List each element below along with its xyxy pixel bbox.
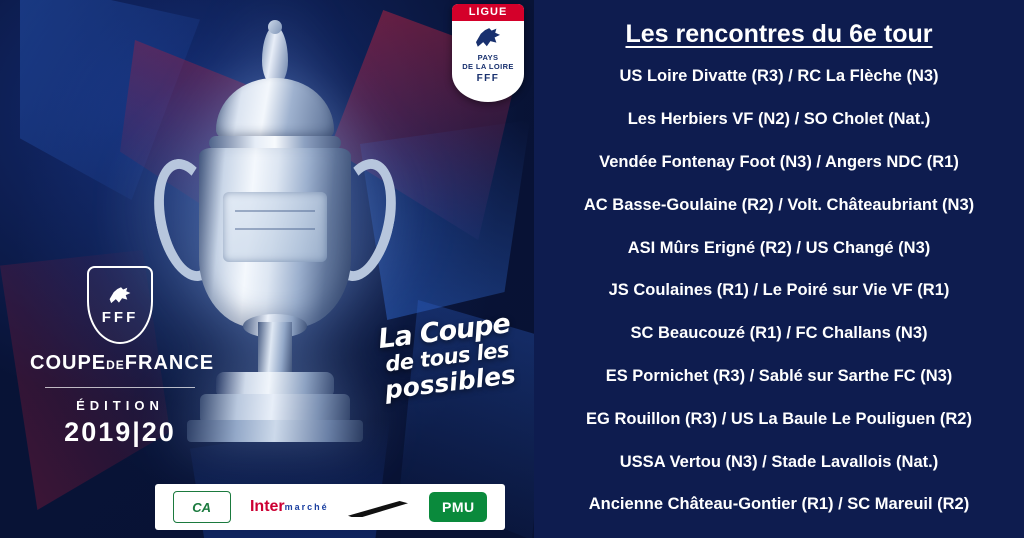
sponsor-bar: CA Inter marché PMU bbox=[155, 484, 505, 530]
edition-year: 2019|20 bbox=[30, 417, 210, 448]
fixture-row: Ancienne Château-Gontier (R1) / SC Mareu… bbox=[546, 495, 1012, 513]
ligue-region-label: PAYSDE LA LOIRE bbox=[452, 54, 524, 72]
fff-shield-logo: FFF bbox=[87, 266, 153, 344]
fixture-row: USSA Vertou (N3) / Stade Lavallois (Nat.… bbox=[546, 453, 1012, 471]
fixture-row: US Loire Divatte (R3) / RC La Flèche (N3… bbox=[546, 67, 1012, 85]
divider bbox=[45, 387, 195, 388]
campaign-slogan: La Coupe de tous les possibles bbox=[368, 309, 526, 404]
fixture-row: ES Pornichet (R3) / Sablé sur Sarthe FC … bbox=[546, 367, 1012, 385]
coupe-de-france-logo-block: FFF COUPEDEFRANCE ÉDITION 2019|20 bbox=[30, 266, 210, 448]
ligue-pays-de-la-loire-badge: LIGUE PAYSDE LA LOIRE FFF bbox=[452, 4, 524, 102]
sponsor-intermarche-logo: Inter marché bbox=[250, 499, 329, 515]
sponsor-pmu-logo: PMU bbox=[429, 492, 487, 522]
ligue-top-label: LIGUE bbox=[452, 4, 524, 21]
coupe-de-france-title: COUPEDEFRANCE bbox=[30, 352, 210, 375]
fixtures-title: Les rencontres du 6e tour bbox=[625, 20, 932, 49]
rooster-icon bbox=[107, 286, 133, 308]
trophy-plaque bbox=[223, 192, 327, 262]
intermarche-sub: marché bbox=[285, 503, 329, 512]
trophy-base-lower bbox=[187, 420, 363, 442]
trophy-figurine-icon bbox=[262, 26, 288, 84]
fixture-row: EG Rouillon (R3) / US La Baule Le Poulig… bbox=[546, 410, 1012, 428]
edition-label: ÉDITION bbox=[30, 398, 210, 413]
fixture-row: ASI Mûrs Erigné (R2) / US Changé (N3) bbox=[546, 239, 1012, 257]
poster: FFF COUPEDEFRANCE ÉDITION 2019|20 La Cou… bbox=[0, 0, 1024, 538]
fixture-row: AC Basse-Goulaine (R2) / Volt. Châteaubr… bbox=[546, 196, 1012, 214]
coupe-word: COUPE bbox=[30, 352, 106, 374]
figurine-head bbox=[268, 20, 282, 34]
fixture-row: SC Beaucouzé (R1) / FC Challans (N3) bbox=[546, 324, 1012, 342]
france-word: FRANCE bbox=[125, 352, 214, 374]
trophy-stem bbox=[258, 322, 292, 378]
poster-artwork-panel: FFF COUPEDEFRANCE ÉDITION 2019|20 La Cou… bbox=[0, 0, 534, 538]
intermarche-main: Inter bbox=[250, 499, 285, 515]
fixtures-panel: Les rencontres du 6e tour US Loire Divat… bbox=[534, 0, 1024, 538]
sponsor-credit-agricole-logo: CA bbox=[173, 491, 231, 523]
sponsor-nike-swoosh-icon bbox=[348, 495, 410, 519]
fixture-row: Les Herbiers VF (N2) / SO Cholet (Nat.) bbox=[546, 110, 1012, 128]
trophy-lid bbox=[216, 78, 334, 140]
fixture-row: Vendée Fontenay Foot (N3) / Angers NDC (… bbox=[546, 153, 1012, 171]
fff-letters: FFF bbox=[102, 310, 139, 325]
fixture-row: JS Coulaines (R1) / Le Poiré sur Vie VF … bbox=[546, 281, 1012, 299]
fixtures-list: US Loire Divatte (R3) / RC La Flèche (N3… bbox=[546, 55, 1012, 530]
rooster-icon bbox=[473, 26, 503, 52]
ligue-federation-label: FFF bbox=[452, 73, 524, 84]
trophy-cup bbox=[199, 148, 351, 328]
de-word: DE bbox=[106, 358, 125, 372]
